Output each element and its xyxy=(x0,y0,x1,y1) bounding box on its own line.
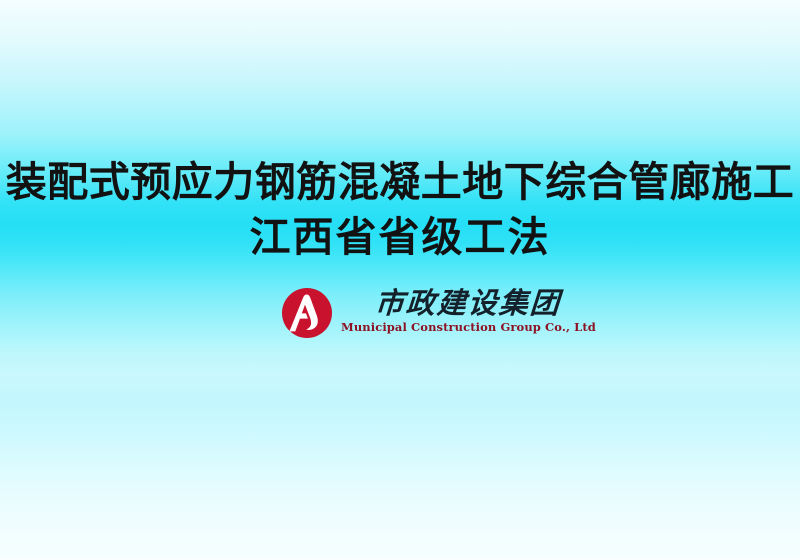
company-logo-text: 市政建设集团 Municipal Construction Group Co.,… xyxy=(341,286,596,334)
company-name-en: Municipal Construction Group Co., Ltd xyxy=(341,320,596,334)
company-logo: 市政建设集团 Municipal Construction Group Co.,… xyxy=(281,286,525,344)
slide-title-block: 装配式预应力钢筋混凝土地下综合管廊施工 江西省省级工法 xyxy=(0,155,800,265)
company-emblem-icon xyxy=(281,287,333,339)
page-title-line-1: 装配式预应力钢筋混凝土地下综合管廊施工 xyxy=(0,155,800,210)
company-name-cn: 市政建设集团 xyxy=(374,287,562,319)
page-title-line-2: 江西省省级工法 xyxy=(0,210,800,265)
title-slide: 装配式预应力钢筋混凝土地下综合管廊施工 江西省省级工法 市政建设集团 Munic… xyxy=(0,0,800,560)
